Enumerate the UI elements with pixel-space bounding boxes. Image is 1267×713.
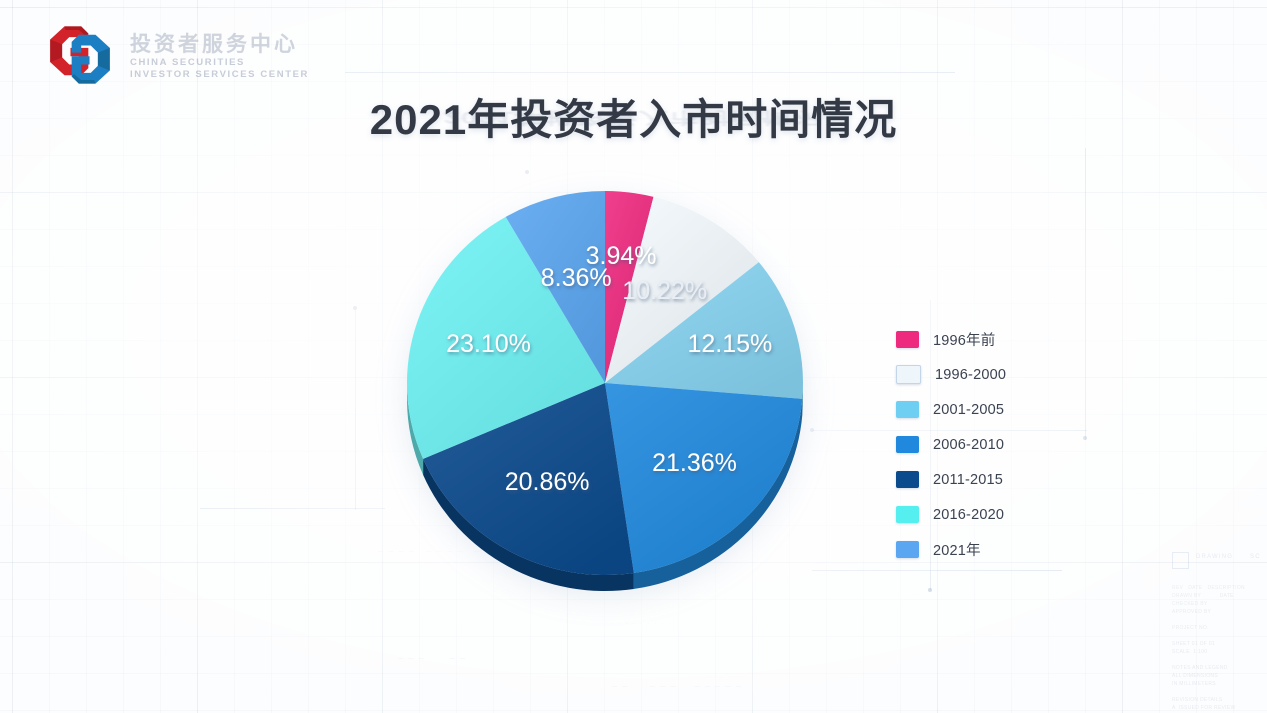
pie-slice-label: 21.36% — [652, 449, 737, 477]
legend-swatch — [896, 436, 919, 453]
legend-item[interactable]: 2011-2015 — [896, 462, 1086, 497]
pie-slice-label: 8.36% — [541, 264, 612, 292]
pie-slice[interactable] — [605, 383, 802, 573]
brand-text: 投资者服务中心 CHINA SECURITIES INVESTOR SERVIC… — [130, 29, 309, 81]
legend-swatch — [896, 541, 919, 558]
legend-item[interactable]: 2016-2020 — [896, 497, 1086, 532]
legend-item[interactable]: 2006-2010 — [896, 427, 1086, 462]
decor-box-bottom-right — [1172, 552, 1189, 569]
csisc-logo-icon — [44, 24, 116, 86]
legend-label: 1996年前 — [933, 329, 995, 350]
legend-swatch — [896, 506, 919, 523]
legend-item[interactable]: 2001-2005 — [896, 392, 1086, 427]
pie-slice-label: 23.10% — [446, 330, 531, 358]
decor-line-horizontal-top — [345, 72, 955, 73]
decor-text-row-2: SC — [1250, 554, 1261, 560]
brand-name-en-line2: INVESTOR SERVICES CENTER — [130, 69, 309, 81]
decor-line-horizontal-lower — [812, 570, 1062, 571]
legend-label: 2006-2010 — [933, 437, 1004, 453]
decor-line-vertical-left — [355, 310, 356, 510]
legend-item[interactable]: 2021年 — [896, 532, 1086, 567]
decor-text-row-1: DRAWING — [1196, 554, 1233, 560]
decor-spec-block: REV DATE DESCRIPTION DRAWN BY DATE CHECK… — [1172, 584, 1245, 713]
decor-spec-block-bottom4: · · · — [842, 560, 860, 568]
chart-legend: 1996年前1996-20002001-20052006-20102011-20… — [896, 322, 1086, 567]
brand-name-en-line1: CHINA SECURITIES — [130, 57, 309, 69]
legend-label: 2011-2015 — [933, 472, 1003, 488]
pie-slice-label: 12.15% — [688, 330, 773, 358]
decor-spec-block-bottom: · · · · · · · · · — [612, 620, 672, 628]
legend-label: 1996-2000 — [935, 367, 1006, 383]
decor-node-a — [525, 170, 529, 174]
pie-chart-svg: 3.94%10.22%12.15%21.36%20.86%23.10%8.36% — [400, 183, 810, 593]
decor-spec-block-bottom3: — — — — — — — — — — — [612, 683, 743, 691]
pie-slice-label: 20.86% — [505, 468, 590, 496]
decor-line-horizontal-left — [200, 508, 385, 509]
brand-logo-block: 投资者服务中心 CHINA SECURITIES INVESTOR SERVIC… — [44, 24, 309, 86]
decor-spec-block-bottom2: — — — — — — [398, 655, 467, 663]
legend-item[interactable]: 1996年前 — [896, 322, 1086, 357]
legend-swatch — [896, 365, 921, 384]
decor-node-d — [353, 306, 357, 310]
legend-label: 2016-2020 — [933, 507, 1004, 523]
brand-name-cn: 投资者服务中心 — [130, 33, 309, 57]
chart-slide: DRAWING SC REV DATE DESCRIPTION DRAWN BY… — [0, 0, 1267, 713]
legend-label: 2021年 — [933, 539, 981, 560]
pie-chart: 3.94%10.22%12.15%21.36%20.86%23.10%8.36% — [400, 183, 810, 593]
legend-swatch — [896, 401, 919, 418]
decor-node-c — [810, 428, 814, 432]
legend-label: 2001-2005 — [933, 402, 1004, 418]
legend-swatch — [896, 471, 919, 488]
decor-node-e — [928, 588, 932, 592]
legend-item[interactable]: 1996-2000 — [896, 357, 1086, 392]
legend-swatch — [896, 331, 919, 348]
pie-slice-label: 10.22% — [622, 277, 707, 305]
page-title: 2021年投资者入市时间情况 — [0, 86, 1267, 147]
